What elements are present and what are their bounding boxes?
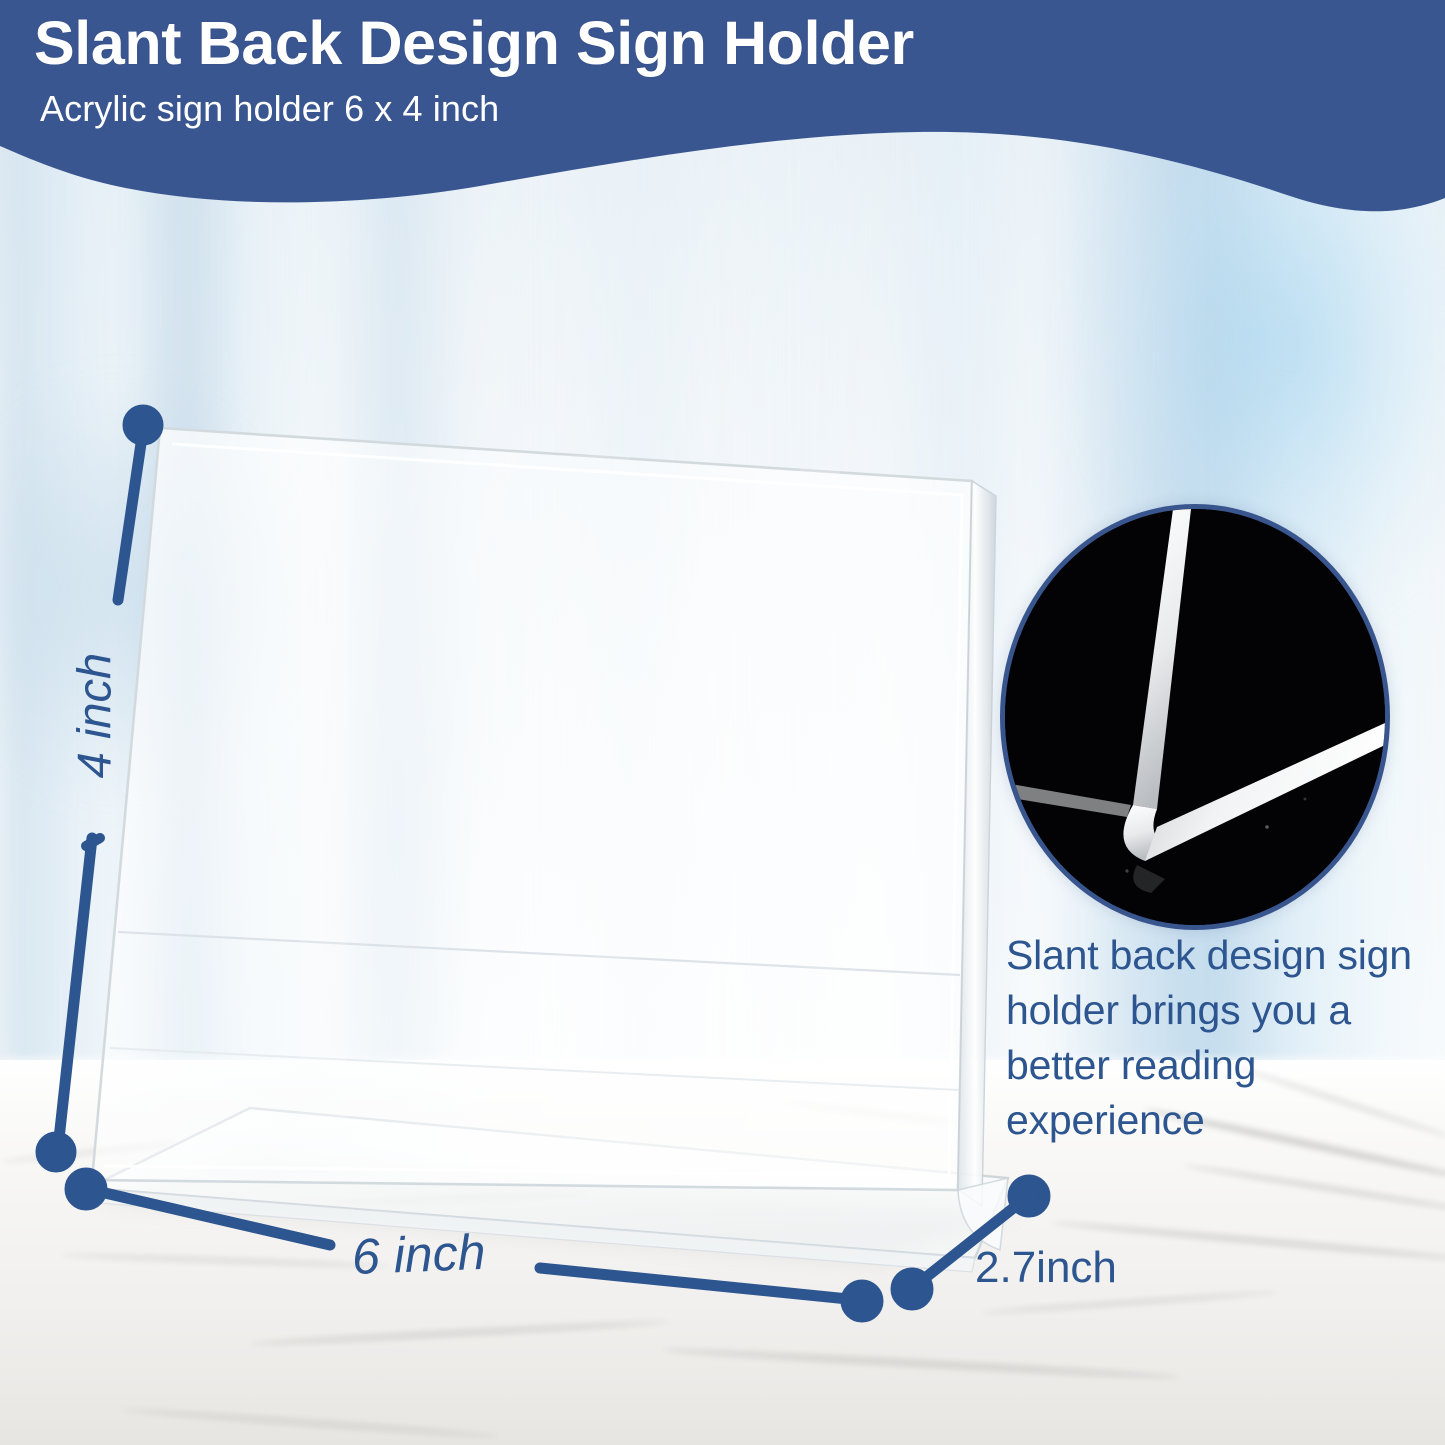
inset-caption: Slant back design sign holder brings you… <box>1006 928 1438 1148</box>
dimension-endpoint-dot <box>1013 1180 1045 1212</box>
dimension-label-width: 6 inch <box>351 1223 487 1286</box>
dimension-label-depth: 2.7inch <box>975 1243 1117 1293</box>
product-infographic: 4 inch 6 inch 2.7inch <box>0 0 1445 1445</box>
dimension-label-height: 4 inch <box>67 616 122 816</box>
dimension-line-height-lower <box>58 838 92 1148</box>
dimension-endpoint-dot <box>846 1285 878 1317</box>
dimension-line-width-left <box>92 1190 330 1245</box>
dimension-endpoint-dot <box>128 410 158 440</box>
banner-subtitle: Acrylic sign holder 6 x 4 inch <box>40 88 499 130</box>
dimension-line-width-right <box>540 1268 858 1300</box>
banner-title: Slant Back Design Sign Holder <box>34 8 914 78</box>
closeup-magnifier-inset <box>1000 504 1390 930</box>
dimension-endpoint-dot <box>41 1137 71 1167</box>
dimension-line-height-upper <box>118 430 143 600</box>
header-banner: Slant Back Design Sign Holder Acrylic si… <box>0 0 1445 240</box>
dimension-endpoint-dot <box>896 1273 928 1305</box>
dimension-endpoint-dot <box>70 1173 102 1205</box>
